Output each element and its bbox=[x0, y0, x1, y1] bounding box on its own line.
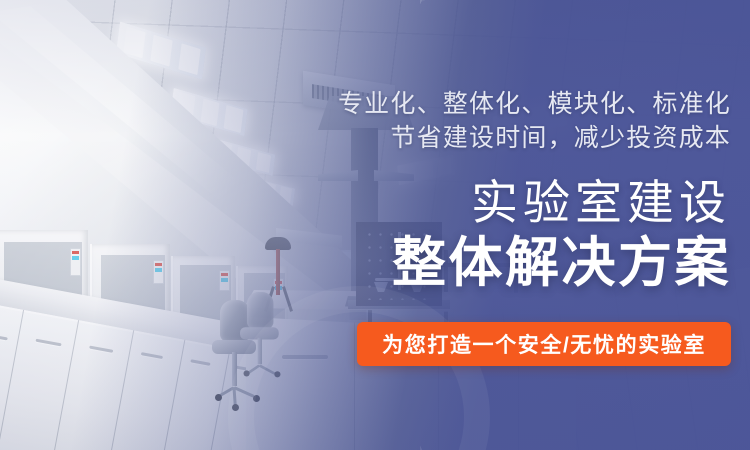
headline-light-line: 实验室建设 bbox=[471, 178, 731, 229]
lab-solution-banner: 专业化、整体化、模块化、标准化 节省建设时间，减少投资成本 实验室建设 整体解决… bbox=[0, 0, 750, 450]
cabinet-handle bbox=[190, 359, 210, 366]
headline-bold-line: 整体解决方案 bbox=[392, 234, 731, 292]
cabinet-handle bbox=[282, 355, 328, 359]
subtitle-line-1: 专业化、整体化、模块化、标准化 bbox=[338, 88, 731, 120]
cabinet-handle bbox=[36, 339, 62, 347]
cta-button[interactable]: 为您打造一个安全/无忧的实验室 bbox=[357, 322, 731, 366]
subtitle-line-2: 节省建设时间，减少投资成本 bbox=[390, 122, 731, 154]
cabinet-handle bbox=[89, 346, 113, 353]
cta-label: 为您打造一个安全/无忧的实验室 bbox=[382, 329, 706, 359]
eyewash-stem bbox=[276, 249, 280, 295]
cabinet-handle bbox=[141, 352, 163, 359]
cabinet-handle bbox=[0, 332, 8, 340]
